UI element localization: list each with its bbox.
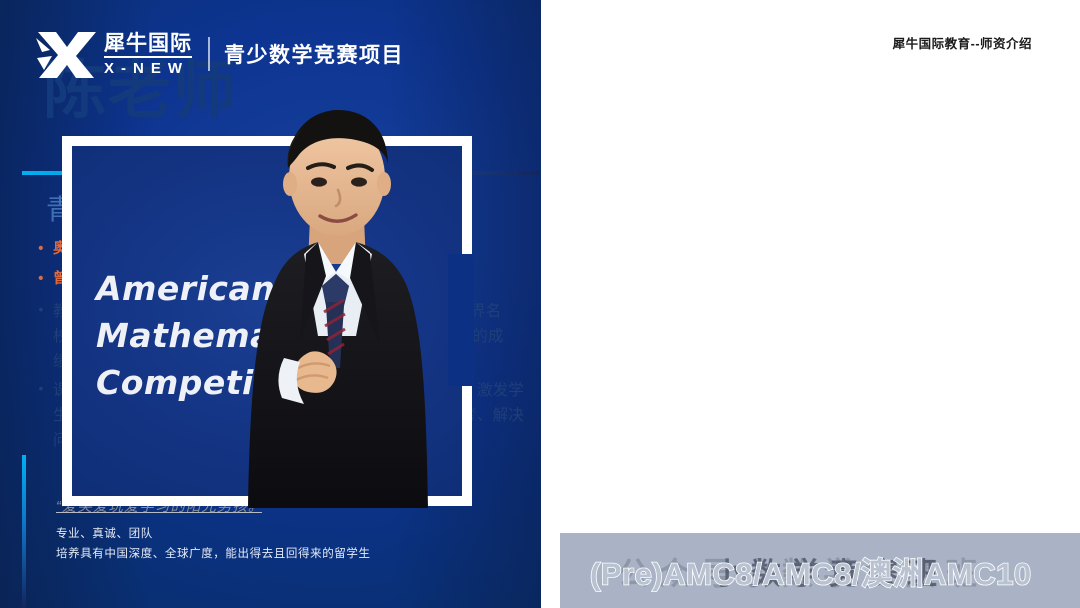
brand-name-cn: 犀牛国际 [104,33,192,58]
bullet-marker-icon: • [29,299,53,321]
left-footer-text: 专业、真诚、团队 培养具有中国深度、全球广度，能出得去且回得来的留学生 [56,524,371,564]
x-new-logo-icon [36,28,98,80]
teacher-portrait-photo [214,106,470,508]
page-kicker: 犀牛国际教育--师资介绍 [893,33,1032,52]
bullet-marker-icon: • [29,238,53,260]
bullet-marker-icon: • [29,268,53,290]
banner-course-name: (Pre)AMC8/AMC8/澳洲AMC10 [590,548,1032,593]
brand-logo-row[interactable]: 犀牛国际 X-NEW 青少数学竞赛项目 [36,26,404,82]
bottom-course-banner: 公众号小数学竞赛班 小数学竞赛班 (Pre)AMC8/AMC8/澳洲AMC10 [560,533,1080,608]
footer-line-2: 培养具有中国深度、全球广度，能出得去且回得来的留学生 [56,544,371,564]
brand-name-en: X-NEW [104,61,189,76]
left-accent-bar [22,455,26,608]
slide-root: 犀牛国际 X-NEW 青少数学竞赛项目 American Mathematics… [0,0,1080,608]
footer-line-1: 专业、真诚、团队 [56,524,371,544]
right-panel [541,0,1080,608]
brand-wordmark: 犀牛国际 X-NEW [104,33,192,76]
bullet-marker-icon: • [29,378,53,400]
brand-divider [208,37,210,71]
brand-tagline: 青少数学竞赛项目 [224,39,404,69]
